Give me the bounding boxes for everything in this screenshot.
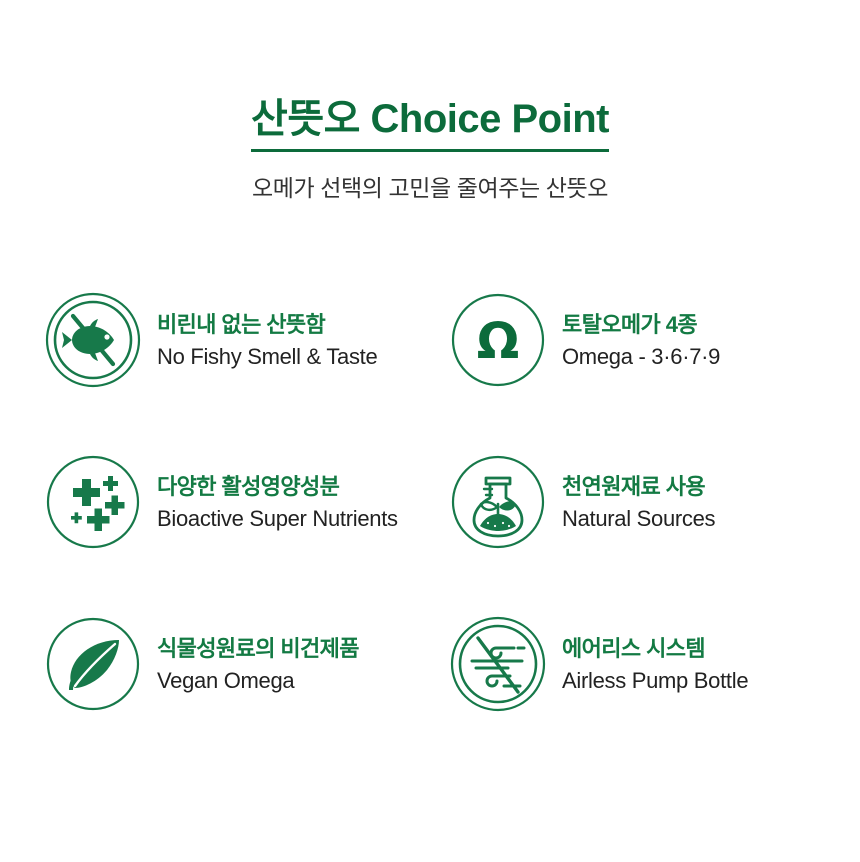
feature-text: 에어리스 시스템 Airless Pump Bottle — [562, 632, 748, 695]
page-subtitle: 오메가 선택의 고민을 줄여주는 산뜻오 — [0, 174, 860, 204]
feature-item: 에어리스 시스템 Airless Pump Bottle — [450, 616, 855, 712]
feature-subtitle: Airless Pump Bottle — [562, 666, 748, 696]
feature-text: 다양한 활성영양성분 Bioactive Super Nutrients — [157, 470, 398, 533]
page-title-wrapper: 산뜻오 Choice Point — [251, 96, 609, 152]
feature-subtitle: Natural Sources — [562, 504, 715, 534]
feature-title: 다양한 활성영양성분 — [157, 472, 398, 502]
feature-title: 에어리스 시스템 — [562, 634, 748, 664]
feature-title: 식물성원료의 비건제품 — [157, 634, 359, 664]
feature-text: 비린내 없는 산뜻함 No Fishy Smell & Taste — [157, 308, 377, 371]
bioactive-nutrients-icon — [45, 454, 141, 550]
feature-item: 천연원재료 사용 Natural Sources — [450, 454, 855, 550]
feature-item: 다양한 활성영양성분 Bioactive Super Nutrients — [45, 454, 450, 550]
feature-item: 비린내 없는 산뜻함 No Fishy Smell & Taste — [45, 292, 450, 388]
choice-point-page: 산뜻오 Choice Point 오메가 선택의 고민을 줄여주는 산뜻오 — [0, 0, 860, 862]
natural-flask-sprout-icon — [450, 454, 546, 550]
feature-subtitle: Bioactive Super Nutrients — [157, 504, 398, 534]
feature-subtitle: Vegan Omega — [157, 666, 359, 696]
page-header: 산뜻오 Choice Point 오메가 선택의 고민을 줄여주는 산뜻오 — [0, 96, 860, 204]
feature-text: 식물성원료의 비건제품 Vegan Omega — [157, 632, 359, 695]
svg-text:Ω: Ω — [477, 312, 520, 370]
feature-item: 식물성원료의 비건제품 Vegan Omega — [45, 616, 450, 712]
airless-pump-icon — [450, 616, 546, 712]
omega-symbol-icon: Ω — [450, 292, 546, 388]
no-fishy-smell-icon — [45, 292, 141, 388]
feature-title: 토탈오메가 4종 — [562, 310, 720, 340]
feature-title: 비린내 없는 산뜻함 — [157, 310, 377, 340]
feature-item: Ω 토탈오메가 4종 Omega - 3·6·7·9 — [450, 292, 855, 388]
title-underline — [251, 149, 609, 152]
page-title: 산뜻오 Choice Point — [251, 96, 609, 142]
feature-subtitle: Omega - 3·6·7·9 — [562, 342, 720, 372]
feature-title: 천연원재료 사용 — [562, 472, 715, 502]
feature-text: 천연원재료 사용 Natural Sources — [562, 470, 715, 533]
feature-grid: 비린내 없는 산뜻함 No Fishy Smell & Taste Ω 토탈오메… — [0, 292, 860, 712]
feature-text: 토탈오메가 4종 Omega - 3·6·7·9 — [562, 308, 720, 371]
vegan-leaf-icon — [45, 616, 141, 712]
feature-subtitle: No Fishy Smell & Taste — [157, 342, 377, 372]
